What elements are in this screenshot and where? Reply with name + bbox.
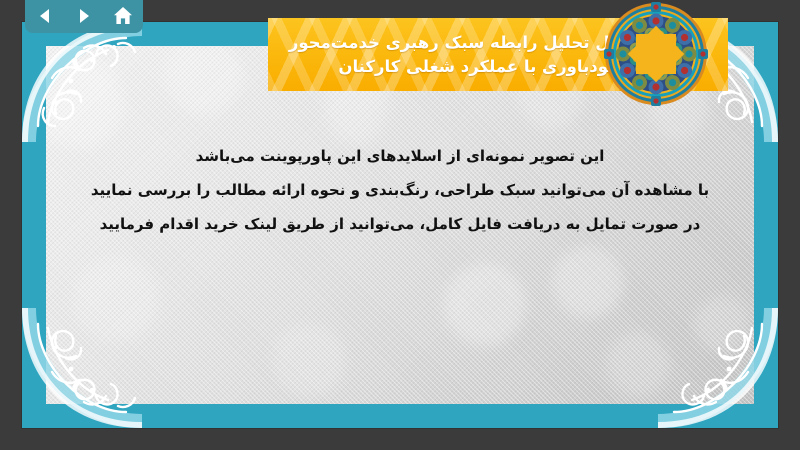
bokeh-circle (552, 246, 624, 318)
bokeh-circle (694, 296, 750, 352)
body-line-3: در صورت تمایل به دریافت فایل کامل، می‌تو… (82, 208, 718, 242)
back-button[interactable] (32, 3, 58, 29)
page-title-line-2: و خودباوری با عملکرد شغلی کارکنان (338, 55, 636, 79)
home-icon (112, 5, 134, 27)
bokeh-circle (444, 264, 526, 346)
navigation-bar (25, 0, 143, 33)
persian-mandala-medallion (604, 2, 708, 106)
page-title-line-1: کامل تحلیل رابطه سبک رهبری خدمت‌محور (289, 31, 636, 55)
triangle-right-icon (74, 6, 94, 26)
body-line-1: این تصویر نمونه‌ای از اسلایدهای این پاور… (82, 140, 718, 174)
home-button[interactable] (110, 3, 136, 29)
slide-viewer: این تصویر نمونه‌ای از اسلایدهای این پاور… (0, 0, 800, 450)
bokeh-circle (606, 332, 670, 396)
triangle-left-icon (35, 6, 55, 26)
body-line-2: با مشاهده آن می‌توانید سبک طراحی، رنگ‌بن… (82, 174, 718, 208)
bokeh-circle (164, 46, 242, 114)
bokeh-circle (46, 56, 124, 148)
bokeh-circle (272, 324, 346, 398)
forward-button[interactable] (71, 3, 97, 29)
bokeh-circle (72, 256, 158, 342)
slide-body-text: این تصویر نمونه‌ای از اسلایدهای این پاور… (82, 140, 718, 241)
